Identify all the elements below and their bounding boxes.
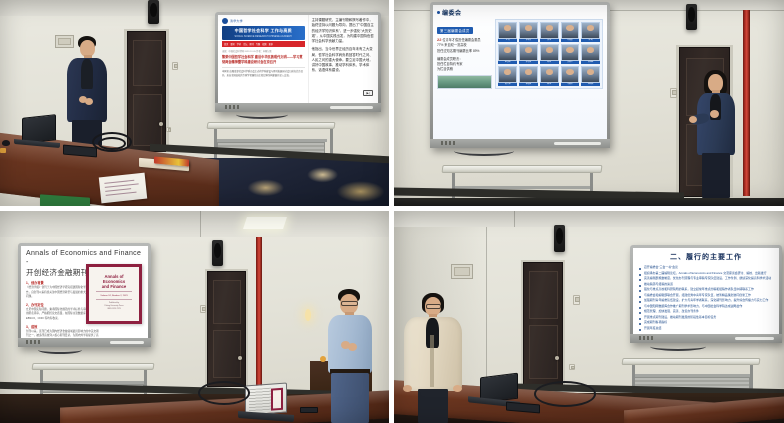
brand-logo-icon — [26, 340, 42, 344]
ceiling-light — [243, 217, 287, 229]
slide-title-row: 编委会 — [437, 8, 603, 17]
folding-table-top — [622, 358, 761, 365]
person-glasses — [426, 304, 441, 309]
door-panel-upper — [213, 280, 241, 324]
ceiling-grid-line — [200, 211, 201, 237]
site-logo-mark-icon — [222, 18, 228, 24]
person-presenter — [689, 70, 745, 198]
door-knob[interactable] — [159, 122, 163, 126]
board-member-cell[interactable]: 郑海峰 — [581, 44, 600, 64]
member-name: 张 伟 — [540, 39, 559, 42]
smartboard-screen[interactable]: Annals of Economics and Finance - 开创经济金融… — [21, 246, 148, 338]
laptop-cover-thumbnail — [271, 388, 283, 411]
chin-bar — [735, 337, 775, 340]
chin-bar — [110, 341, 145, 344]
folding-table-top — [442, 165, 603, 173]
brand-logo-icon — [639, 336, 655, 340]
collage-photo-bottom-right[interactable]: 二、履行的主要工作 召开编委会"三会一书"会议 组织承办第二届编辑论坛，Anna… — [394, 211, 784, 423]
member-portrait — [498, 66, 517, 83]
person-presenter — [322, 289, 380, 423]
person-sweater — [81, 59, 93, 89]
paper-line-2 — [105, 188, 131, 192]
door-panel-lower — [133, 94, 162, 146]
person-legs — [702, 153, 730, 198]
article-headline: 繁荣中国哲学社会科学 建设中华民族现代文明——学习贯彻两会精神暨学科建设研讨会在… — [222, 55, 305, 64]
stat-2-number: 89% — [473, 49, 479, 53]
wall-lamp — [305, 309, 311, 321]
member-portrait — [498, 22, 517, 39]
wall-plaque-inner — [454, 267, 470, 275]
cable-coil — [198, 381, 250, 405]
door-panel-upper — [529, 271, 558, 319]
board-member-cell[interactable]: 李晓东 — [519, 22, 538, 42]
member-portrait — [519, 22, 538, 39]
member-name: 王 芳 — [498, 39, 517, 42]
smartboard-cable — [650, 342, 706, 351]
slide-editorial-board: 编委会 第三届编委会成员 22 位青年才俊担任编委会委员 77% 来自双一流高校 — [433, 5, 607, 139]
member-name: 周 颖 — [540, 61, 559, 64]
note-2: 为栏目供稿 — [437, 67, 492, 72]
mouse[interactable] — [2, 140, 10, 146]
wall-plaque — [451, 264, 473, 279]
folding-table-top — [32, 363, 155, 370]
person-legs — [418, 389, 448, 423]
stat-0-text: 位青年才俊担任编委会委员 — [442, 38, 480, 42]
right-paragraph-1: 他指出，当今世界正经历百年未有之大变局，哲学社会科学肩负着回答时代之问、人民之问… — [312, 47, 374, 73]
divider — [222, 67, 305, 68]
board-member-cell[interactable]: 王 芳 — [498, 22, 517, 42]
door-panel-lower — [529, 325, 558, 379]
light-switch[interactable] — [172, 62, 178, 70]
paper-line-1 — [105, 183, 139, 188]
site-navbar[interactable]: 首页 要闻 学术 论坛 期刊 专题 视频 更多 — [222, 41, 305, 47]
member-portrait — [519, 66, 538, 83]
smartboard-cable — [38, 346, 82, 354]
member-name: 赵雪梅 — [498, 61, 517, 64]
nav-item-0[interactable]: 首页 — [224, 42, 228, 46]
journal-cover-image: Annals of Economics and Finance Volume 2… — [86, 264, 142, 324]
campus-photo — [437, 75, 492, 89]
cover-title-line-2: and Finance — [92, 284, 136, 289]
site-banner: 中国哲学社会科学 工作与高质 SOCIAL SCIENCE RESEARCH C… — [222, 26, 305, 40]
cover-footer-2: ISSN 1529-7373 — [92, 308, 136, 311]
paper-line-3 — [106, 192, 137, 196]
person-hand-right — [453, 385, 462, 392]
member-name: 陈 明 — [581, 39, 600, 42]
person-hand-right — [85, 98, 93, 105]
slide-news-webpage: 清华大学 中国哲学社会科学 工作与高质 SOCIAL SCIENCE RESEA… — [218, 15, 378, 103]
member-portrait — [561, 44, 580, 61]
slide-webpage-left: 清华大学 中国哲学社会科学 工作与高质 SOCIAL SCIENCE RESEA… — [218, 15, 308, 103]
connector-box[interactable] — [300, 407, 318, 413]
slide-aef-journal: Annals of Economics and Finance - 开创经济金融… — [21, 246, 148, 338]
board-member-cell[interactable]: 朱 伟 — [540, 66, 559, 86]
board-member-grid: 王 芳 李晓东 张 伟 刘建国 陈 明 赵雪梅 孙志强 周 颖 吴丽华 郑海峰 … — [495, 19, 603, 89]
stat-1-text: 来自双一流高校 — [444, 43, 466, 47]
slide-body-row: 第三届编委会成员 22 位青年才俊担任编委会委员 77% 来自双一流高校 担任过… — [437, 19, 603, 89]
member-name: 马俊杰 — [561, 83, 580, 86]
nav-item-2[interactable]: 学术 — [237, 42, 241, 46]
cable-coil-inner — [98, 137, 126, 150]
person-hand-right — [710, 110, 719, 118]
member-portrait — [561, 66, 580, 83]
slide-title: 二、履行的主要工作 — [639, 252, 773, 262]
article-meta: 来源：中国社会科学网 2023-12-05 作者：本网记者 — [222, 49, 305, 53]
section-2-head: 3、成效 — [26, 324, 143, 329]
nav-item-5[interactable]: 专题 — [256, 42, 260, 46]
floor — [394, 198, 784, 206]
person-legs — [331, 373, 369, 423]
board-member-cell[interactable]: 黄文博 — [498, 66, 517, 86]
board-member-cell[interactable]: 林晓燕 — [581, 66, 600, 86]
ceiling-speaker-icon — [148, 0, 159, 24]
wall-outlet[interactable] — [166, 127, 171, 132]
ceiling-speaker-icon — [212, 240, 223, 266]
collage-photo-top-right[interactable]: 编委会 第三届编委会成员 22 位青年才俊担任编委会委员 77% 来自双一流高校 — [394, 0, 784, 206]
door-panel-upper — [133, 40, 162, 86]
door-knob[interactable] — [238, 356, 242, 360]
nav-item-4[interactable]: 期刊 — [250, 42, 254, 46]
person-presenter — [402, 293, 464, 423]
stats-column: 第三届编委会成员 22 位青年才俊担任编委会委员 77% 来自双一流高校 担任过… — [437, 19, 492, 89]
board-member-cell[interactable]: 赵雪梅 — [498, 44, 517, 64]
member-portrait — [581, 22, 600, 39]
door[interactable] — [523, 262, 563, 387]
brand-logo-icon — [441, 141, 457, 145]
board-member-cell[interactable]: 刘建国 — [561, 22, 580, 42]
member-name: 黄文博 — [498, 83, 517, 86]
slide-title: 编委会 — [442, 8, 462, 17]
site-logo-text: 清华大学 — [230, 19, 243, 23]
door-panel-lower — [213, 330, 241, 378]
section-tag: 第三届编委会成员 — [437, 27, 473, 34]
laptop-screen[interactable] — [245, 383, 287, 416]
member-name: 李晓东 — [519, 39, 538, 42]
member-portrait — [540, 22, 559, 39]
stat-0-number: 22 — [437, 37, 441, 42]
slide-title-sep: - — [26, 259, 29, 266]
nav-item-7[interactable]: 更多 — [269, 42, 273, 46]
member-portrait — [540, 66, 559, 83]
person-hand-right — [348, 343, 357, 351]
ceiling — [394, 211, 784, 227]
article-body: 本网讯 由教育部社会科学委员会主办的学科建设与期刊发展研讨会日前在北京召开，来自… — [222, 71, 305, 78]
nav-item-1[interactable]: 要闻 — [230, 42, 234, 46]
wall-outlet[interactable] — [569, 364, 575, 370]
light-switch[interactable] — [573, 295, 580, 305]
cover-divider — [96, 291, 132, 292]
member-name: 林晓燕 — [581, 83, 600, 86]
member-portrait — [581, 66, 600, 83]
member-name: 徐国强 — [519, 83, 538, 86]
smartboard[interactable]: 清华大学 中国哲学社会科学 工作与高质 SOCIAL SCIENCE RESEA… — [215, 12, 381, 112]
cable-coil — [534, 381, 596, 407]
member-name: 吴丽华 — [561, 61, 580, 64]
ceiling — [0, 211, 389, 237]
chin-bar — [554, 142, 601, 145]
photo-collage: 清华大学 中国哲学社会科学 工作与高质 SOCIAL SCIENCE RESEA… — [0, 0, 784, 423]
board-member-cell[interactable]: 陈 明 — [581, 22, 600, 42]
smartboard-screen[interactable]: 编委会 第三届编委会成员 22 位青年才俊担任编委会委员 77% 来自双一流高校 — [433, 5, 607, 139]
banner-title: 中国哲学社会科学 工作与高质 — [225, 28, 302, 34]
folding-table-top — [206, 122, 335, 129]
right-paragraph-0: 主持课题研究，主编刊物和撰写著作中，始终坚持以问题为导向，提出了"中国自主的经济… — [312, 18, 374, 44]
cup[interactable] — [0, 148, 6, 153]
member-name: 刘建国 — [561, 39, 580, 42]
board-member-cell[interactable]: 马俊杰 — [561, 66, 580, 86]
slide-work-report: 二、履行的主要工作 召开编委会"三会一书"会议 组织承办第二届编辑论坛，Anna… — [633, 248, 779, 334]
banner-subtitle: SOCIAL SCIENCE RESEARCH CHINESE ACADEMY — [225, 35, 302, 38]
ceiling-grid-line — [514, 211, 515, 227]
smartboard-screen[interactable]: 二、履行的主要工作 召开编委会"三会一书"会议 组织承办第二届编辑论坛，Anna… — [633, 248, 779, 334]
stat-1-number: 77% — [437, 43, 443, 47]
member-name: 朱 伟 — [540, 83, 559, 86]
laptop-screen-text — [249, 388, 271, 414]
member-portrait — [498, 44, 517, 61]
ceiling-speaker-icon — [686, 4, 697, 30]
bullet-list: 召开编委会"三会一书"会议 组织承办第二届编辑论坛，Annals of Econ… — [639, 265, 773, 331]
smartboard-cable — [236, 110, 288, 119]
bullet-item: 开展年度总结 — [639, 326, 773, 332]
next-slide-button[interactable]: ▶| — [363, 90, 373, 96]
red-pipe — [256, 237, 262, 387]
smartboard-cable — [454, 146, 514, 156]
collage-photo-bottom-left[interactable]: Annals of Economics and Finance - 开创经济金融… — [0, 211, 389, 423]
smartboard[interactable]: 编委会 第三届编委会成员 22 位青年才俊担任编委会委员 77% 来自双一流高校 — [430, 2, 610, 148]
smartboard[interactable]: Annals of Economics and Finance - 开创经济金融… — [18, 243, 151, 347]
ceiling-speaker-icon — [554, 225, 565, 252]
chin-bar — [330, 106, 373, 109]
jacket-zipper — [430, 335, 434, 387]
smartboard[interactable]: 二、履行的主要工作 召开编委会"三会一书"会议 组织承办第二届编辑论坛，Anna… — [630, 245, 782, 343]
handout-papers[interactable] — [99, 173, 147, 204]
person-hand-left — [403, 385, 412, 392]
light-switch[interactable] — [670, 88, 677, 98]
member-portrait — [519, 44, 538, 61]
door-knob[interactable] — [555, 356, 559, 360]
nav-item-6[interactable]: 视频 — [262, 42, 266, 46]
bullet-dot-icon — [437, 11, 440, 14]
section-2-body: 创刊以来，该刊已成为国内经济金融领域最具影响力的中英文期刊之一，被多所高校列入核… — [26, 330, 101, 338]
member-portrait — [561, 22, 580, 39]
cover-divider-2 — [96, 299, 132, 300]
stat-2: 担任过知名期刊编委比率 89% — [437, 49, 492, 54]
board-member-cell[interactable]: 孙志强 — [519, 44, 538, 64]
brand-logo-icon — [225, 105, 241, 109]
member-name: 郑海峰 — [581, 61, 600, 64]
person-hand-left — [689, 116, 697, 123]
person-glasses — [341, 301, 358, 306]
light-switch[interactable] — [200, 305, 206, 313]
board-member-cell[interactable]: 周 颖 — [540, 44, 559, 64]
cover-subtitle: Volume 24, Number 2, 2023 — [92, 295, 136, 297]
board-member-cell[interactable]: 徐国强 — [519, 66, 538, 86]
collage-photo-top-left[interactable]: 清华大学 中国哲学社会科学 工作与高质 SOCIAL SCIENCE RESEA… — [0, 0, 389, 206]
door[interactable] — [207, 271, 246, 387]
site-logo: 清华大学 — [222, 18, 305, 24]
member-portrait — [581, 44, 600, 61]
slide-title-en: Annals of Economics and Finance — [26, 250, 141, 257]
nav-item-3[interactable]: 论坛 — [243, 42, 247, 46]
member-name: 孙志强 — [519, 61, 538, 64]
door[interactable] — [127, 31, 166, 152]
board-member-cell[interactable]: 吴丽华 — [561, 44, 580, 64]
smartboard-screen[interactable]: 清华大学 中国哲学社会科学 工作与高质 SOCIAL SCIENCE RESEA… — [218, 15, 378, 103]
board-member-cell[interactable]: 张 伟 — [540, 22, 559, 42]
stat-2-text: 担任过知名期刊编委比率 — [437, 49, 472, 53]
member-portrait — [540, 44, 559, 61]
